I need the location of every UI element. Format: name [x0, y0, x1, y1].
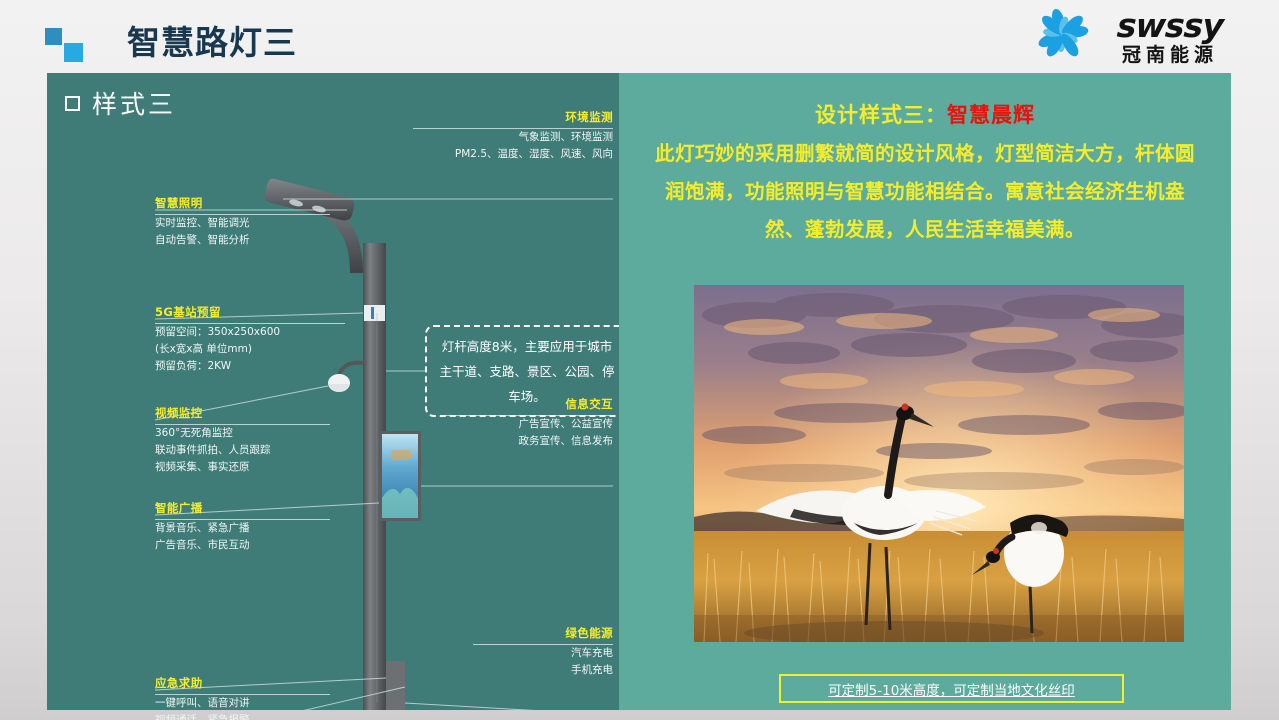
design-style-prefix: 设计样式三： — [815, 103, 947, 127]
brand-name: swssy — [1116, 9, 1224, 42]
annotation-heading: 智慧照明 — [155, 195, 330, 211]
annotation-line: 预留负荷：2KW — [155, 358, 345, 375]
annotation-rule — [155, 694, 330, 695]
annotation-line: 视频采集、事实还原 — [155, 459, 330, 476]
annotation-video-surveillance: 视频监控 360°无死角监控 联动事件抓拍、人员跟踪 视频采集、事实还原 — [155, 405, 330, 476]
annotation-line: 背景音乐、紧急广播 — [155, 520, 330, 537]
annotation-line: 360°无死角监控 — [155, 425, 330, 442]
annotation-rule — [155, 323, 345, 324]
callout-text: 灯杆高度8米，主要应用于城市主干道、支路、景区、公园、停车场。 — [427, 334, 627, 409]
crane-sunset-photo — [694, 285, 1184, 642]
design-description: 此灯巧妙的采用删繁就简的设计风格，灯型简洁大方，杆体圆润饱满，功能照明与智慧功能… — [647, 135, 1203, 249]
annotation-smart-broadcast: 智能广播 背景音乐、紧急广播 广告音乐、市民互动 — [155, 500, 330, 554]
annotation-line: PM2.5、温度、湿度、风速、风向 — [413, 146, 613, 163]
height-application-callout: 灯杆高度8米，主要应用于城市主干道、支路、景区、公园、停车场。 — [425, 325, 629, 417]
annotation-line: (长x宽x高 单位mm) — [155, 341, 345, 358]
annotation-line: 手机充电 — [473, 662, 613, 679]
style-heading-label: 样式三 — [92, 85, 176, 121]
annotation-line: 联动事件抓拍、人员跟踪 — [155, 442, 330, 459]
annotation-green-energy: 绿色能源 汽车充电 手机充电 — [473, 625, 613, 679]
customization-caption-box: 可定制5-10米高度，可定制当地文化丝印 — [779, 674, 1124, 703]
brand-logo: swssy 冠南能源 — [1017, 6, 1223, 68]
annotation-heading: 环境监测 — [413, 109, 613, 125]
annotation-line: 视频通话、紧急报警 — [155, 712, 330, 720]
slide-header: 智慧路灯三 swssy 冠南能源 — [0, 0, 1279, 73]
annotation-heading: 5G基站预留 — [155, 304, 345, 320]
customization-caption: 可定制5-10米高度，可定制当地文化丝印 — [828, 679, 1075, 699]
design-style-heading: 设计样式三：智慧晨辉 — [619, 99, 1231, 129]
annotation-5g-base-station: 5G基站预留 预留空间：350x250x600 (长x宽x高 单位mm) 预留负… — [155, 304, 345, 375]
annotation-heading: 应急求助 — [155, 675, 330, 691]
design-style-accent: 智慧晨辉 — [947, 103, 1035, 127]
annotation-smart-lighting: 智慧照明 实时监控、智能调光 自动告警、智能分析 — [155, 195, 330, 249]
annotation-line: 预留空间：350x250x600 — [155, 324, 345, 341]
annotation-heading: 绿色能源 — [473, 625, 613, 641]
annotation-rule — [473, 644, 613, 645]
annotation-heading: 智能广播 — [155, 500, 330, 516]
right-description-panel: 设计样式三：智慧晨辉 此灯巧妙的采用删繁就简的设计风格，灯型简洁大方，杆体圆润饱… — [619, 73, 1231, 710]
style-heading: 样式三 — [65, 85, 176, 121]
annotation-line: 一键呼叫、语音对讲 — [155, 695, 330, 712]
annotation-rule — [155, 214, 330, 215]
decorative-squares-icon — [45, 28, 89, 62]
annotation-environment-monitoring: 环境监测 气象监测、环境监测 PM2.5、温度、湿度、风速、风向 — [413, 109, 613, 163]
annotation-rule — [413, 128, 613, 129]
annotation-line: 广告音乐、市民互动 — [155, 537, 330, 554]
page-title: 智慧路灯三 — [127, 16, 297, 64]
annotation-heading: 视频监控 — [155, 405, 330, 421]
photo-artwork — [694, 285, 1184, 642]
annotation-line: 实时监控、智能调光 — [155, 215, 330, 232]
annotation-emergency-help: 应急求助 一键呼叫、语音对讲 视频通话、紧急报警 — [155, 675, 330, 720]
annotation-rule — [155, 519, 330, 520]
annotation-line: 广告宣传、公益宣传 — [443, 416, 613, 433]
annotation-line: 政务宣传、信息发布 — [443, 433, 613, 450]
flower-petal-icon — [1017, 6, 1105, 68]
brand-subtitle: 冠南能源 — [1122, 46, 1218, 65]
annotation-line: 汽车充电 — [473, 645, 613, 662]
annotation-line: 自动告警、智能分析 — [155, 232, 330, 249]
annotation-rule — [155, 424, 330, 425]
left-diagram-panel: 样式三 — [47, 73, 619, 710]
annotation-line: 气象监测、环境监测 — [413, 129, 613, 146]
square-bullet-icon — [65, 96, 80, 111]
